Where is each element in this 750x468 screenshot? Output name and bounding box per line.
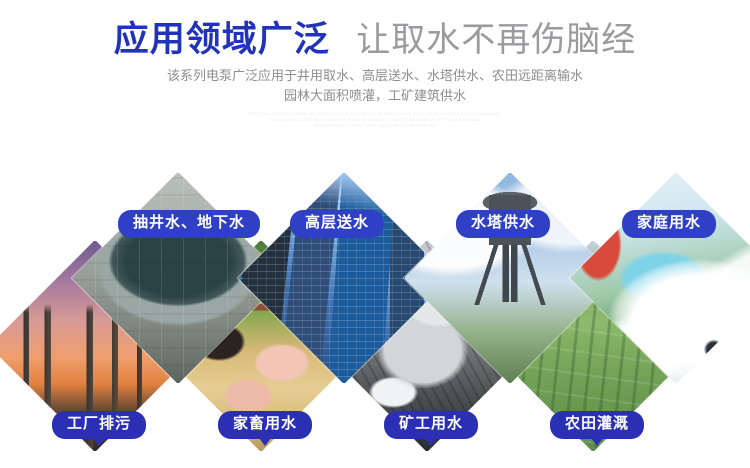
page-subtitle: 让取水不再伤脑经 (356, 23, 636, 57)
badge-highrise[interactable]: 高层送水 (290, 210, 384, 238)
description-line-2: 园林大面积喷灌，工矿建筑供水 (0, 86, 750, 106)
page-title: 应用领域广泛 (114, 22, 330, 57)
badge-household[interactable]: 家庭用水 (622, 210, 716, 238)
micro-text: THE IT HAS A PERFECT MODELING INTEGRATIO… (0, 112, 750, 129)
badge-well[interactable]: 抽井水、地下水 (118, 210, 260, 238)
description: 该系列电泵广泛应用于井用取水、高层送水、水塔供水、农田远距离输水 园林大面积喷灌… (0, 66, 750, 106)
promo-banner: 应用领域广泛 让取水不再伤脑经 该系列电泵广泛应用于井用取水、高层送水、水塔供水… (0, 0, 750, 468)
description-line-1: 该系列电泵广泛应用于井用取水、高层送水、水塔供水、农田远距离输水 (0, 66, 750, 86)
badge-livestock[interactable]: 家畜用水 (218, 411, 312, 439)
header: 应用领域广泛 让取水不再伤脑经 该系列电泵广泛应用于井用取水、高层送水、水塔供水… (0, 0, 750, 130)
title-row: 应用领域广泛 让取水不再伤脑经 (0, 22, 750, 57)
badge-water-tower[interactable]: 水塔供水 (456, 210, 550, 238)
badge-farmland[interactable]: 农田灌溉 (550, 411, 644, 439)
badge-factory[interactable]: 工厂排污 (52, 411, 146, 439)
badge-miner[interactable]: 矿工用水 (384, 411, 478, 439)
micro-text-line-3: SPACING PRIVACY RELIEF TYPE UNIQUE WITH … (0, 124, 750, 130)
